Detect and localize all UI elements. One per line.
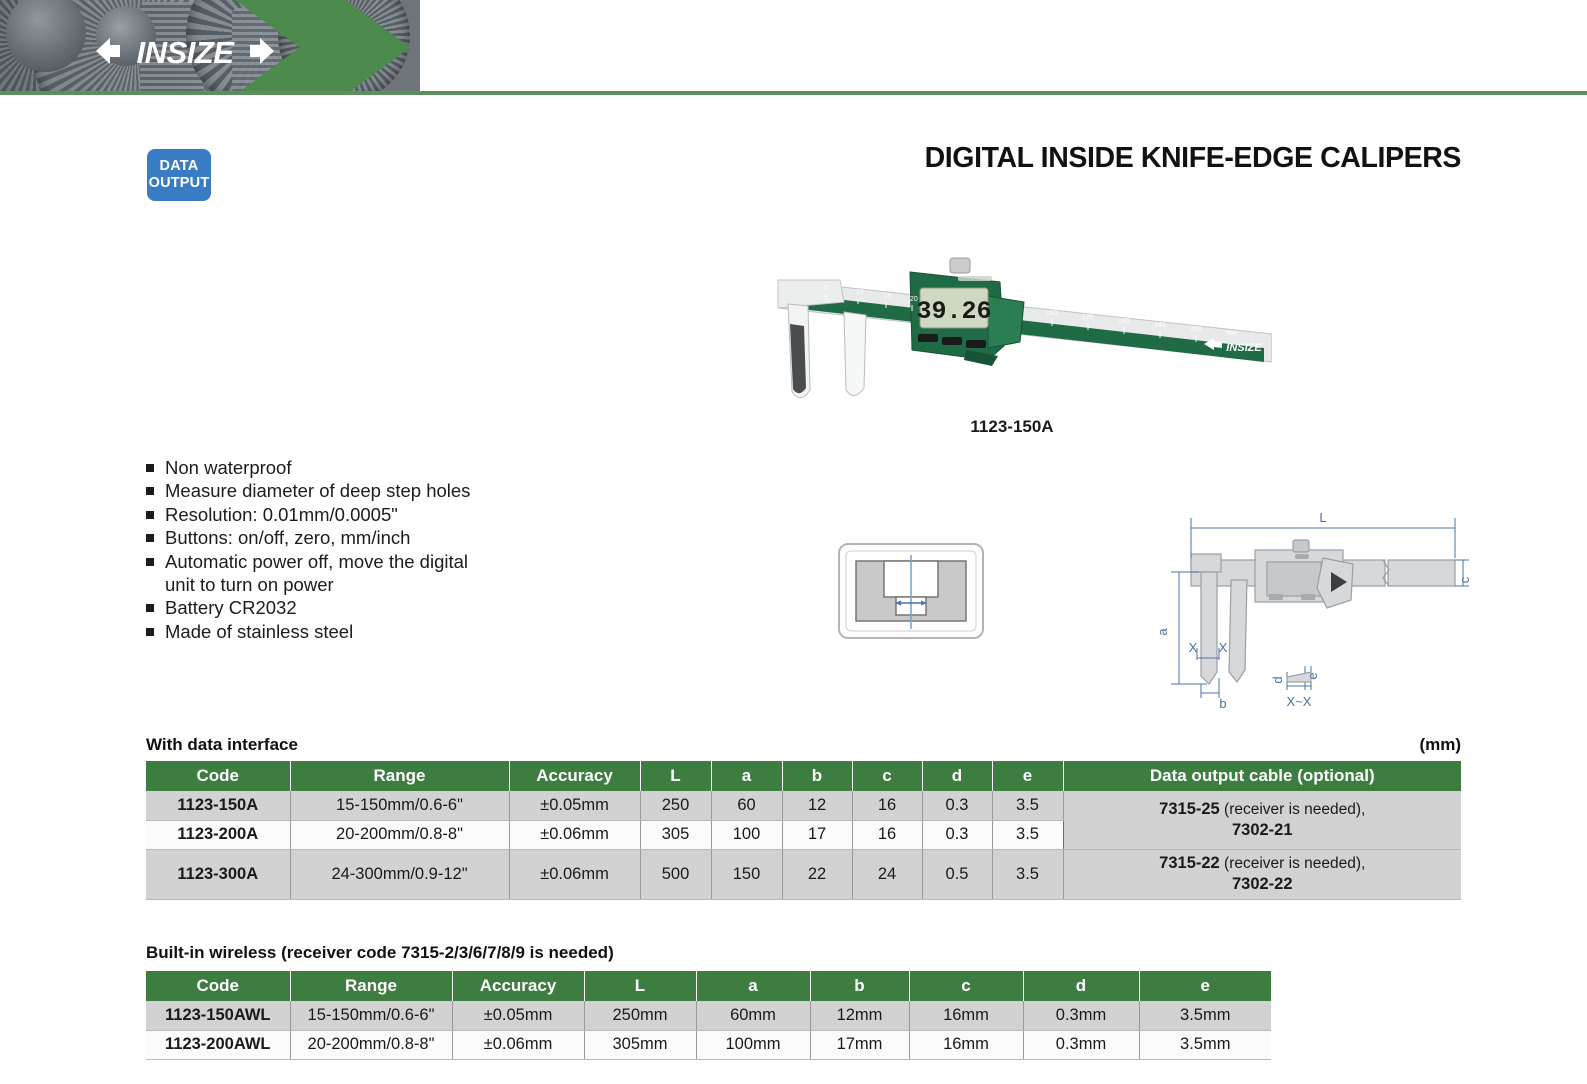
bullet-square-icon [146,511,154,519]
table-row: 1123-200AWL 20-200mm/0.8-8" ±0.06mm 305m… [146,1030,1271,1059]
dim-label-b: b [1219,696,1226,708]
cell-b: 12 [782,791,852,820]
cell-e: 3.5 [992,820,1063,849]
bullet-square-icon [146,487,154,495]
cell-d: 0.3 [922,791,992,820]
bullet-square-icon [146,464,154,472]
cable-code-2: 7302-21 [1232,821,1293,839]
col-header-e: e [992,761,1063,791]
col-header-a: a [696,971,810,1001]
list-item: Buttons: on/off, zero, mm/inch [146,526,666,549]
cell-code: 1123-150A [146,791,290,820]
table-header-row: Code Range Accuracy L a b c d e [146,971,1271,1001]
cell-range: 24-300mm/0.9-12" [290,849,509,899]
cell-range: 20-200mm/0.8-8" [290,1030,452,1059]
svg-text:20: 20 [910,296,918,303]
feature-text: Resolution: 0.01mm/0.0005" [165,503,398,526]
list-item: Automatic power off, move the digital un… [146,550,666,597]
svg-text:INSIZE: INSIZE [137,35,236,70]
table-row: 1123-150A 15-150mm/0.6-6" ±0.05mm 250 60… [146,791,1461,820]
cable-code-1: 7315-22 [1159,854,1220,872]
svg-text:15: 15 [884,293,892,300]
col-header-range: Range [290,761,509,791]
page-title: DIGITAL INSIDE KNIFE-EDGE CALIPERS [925,142,1461,175]
cell-L: 250 [640,791,711,820]
table1-unit-note: (mm) [1419,735,1461,755]
dim-label-e: e [1305,672,1320,679]
table2-caption: Built-in wireless (receiver code 7315-2/… [146,943,614,963]
cell-range: 20-200mm/0.8-8" [290,820,509,849]
cell-b: 22 [782,849,852,899]
cell-code: 1123-200A [146,820,290,849]
product-code-label: 1123-150A [752,417,1272,437]
cell-a: 100mm [696,1030,810,1059]
cell-e: 3.5 [992,849,1063,899]
cell-L: 250mm [584,1001,696,1030]
col-header-e: e [1139,971,1271,1001]
cell-a: 100 [711,820,782,849]
col-header-L: L [584,971,696,1001]
dim-label-section: X~X [1287,694,1312,708]
cell-code: 1123-300A [146,849,290,899]
svg-text:120: 120 [1082,314,1094,321]
bullet-square-icon [146,628,154,636]
bullet-square-icon [146,534,154,542]
bullet-square-icon [146,604,154,612]
header-green-rule [0,91,1587,95]
svg-text:5: 5 [824,285,828,292]
col-header-a: a [711,761,782,791]
col-header-c: c [909,971,1023,1001]
cable-code-1: 7315-25 [1159,800,1220,818]
table-row: 1123-300A 24-300mm/0.9-12" ±0.06mm 500 1… [146,849,1461,899]
col-header-accuracy: Accuracy [509,761,640,791]
cable-code-2: 7302-22 [1232,875,1293,893]
cell-d: 0.3mm [1023,1030,1139,1059]
feature-list: Non waterproof Measure diameter of deep … [146,456,666,643]
feature-text: Buttons: on/off, zero, mm/inch [165,526,410,549]
svg-text:130: 130 [1118,318,1130,325]
feature-text: Made of stainless steel [165,620,353,643]
cell-a: 60mm [696,1001,810,1030]
cell-c: 16 [852,791,922,820]
bullet-square-icon [146,558,154,566]
cell-d: 0.3mm [1023,1001,1139,1030]
dim-label-d: d [1270,676,1285,683]
cell-accuracy: ±0.06mm [509,849,640,899]
table1-caption: With data interface [146,735,298,755]
cell-code: 1123-150AWL [146,1001,290,1030]
cell-d: 0.3 [922,820,992,849]
cell-c: 16mm [909,1001,1023,1030]
col-header-b: b [782,761,852,791]
data-output-badge: DATA OUTPUT [147,149,211,201]
table-row: 1123-150AWL 15-150mm/0.6-6" ±0.05mm 250m… [146,1001,1271,1030]
list-item: Made of stainless steel [146,620,666,643]
product-photo: 39.26 510 1520 110120 130140 150mm [752,238,1272,438]
cell-range: 15-150mm/0.6-6" [290,1001,452,1030]
col-header-code: Code [146,971,290,1001]
col-header-L: L [640,761,711,791]
cell-c: 24 [852,849,922,899]
page-header-banner: INSIZE [0,0,1587,95]
col-header-range: Range [290,971,452,1001]
col-header-cable: Data output cable (optional) [1063,761,1461,791]
dim-label-c: c [1457,576,1472,583]
svg-text:10: 10 [856,289,864,296]
list-item: Measure diameter of deep step holes [146,479,666,502]
col-header-b: b [810,971,909,1001]
cell-c: 16mm [909,1030,1023,1059]
cell-cable-group-2: 7315-22 (receiver is needed), 7302-22 [1063,849,1461,899]
cell-L: 305 [640,820,711,849]
cell-code: 1123-200AWL [146,1030,290,1059]
dim-label-L: L [1319,510,1326,525]
col-header-accuracy: Accuracy [452,971,584,1001]
cell-a: 60 [711,791,782,820]
cell-b: 12mm [810,1001,909,1030]
list-item: Battery CR2032 [146,596,666,619]
spec-table-builtin-wireless: Code Range Accuracy L a b c d e 1123-150… [146,971,1271,1060]
cell-e: 3.5mm [1139,1001,1271,1030]
cell-range: 15-150mm/0.6-6" [290,791,509,820]
svg-text:140: 140 [1154,322,1166,329]
cell-e: 3.5 [992,791,1063,820]
insize-logo: INSIZE [96,30,274,72]
cell-b: 17mm [810,1030,909,1059]
svg-text:mm: mm [1226,330,1238,337]
feature-text: Non waterproof [165,456,291,479]
cell-accuracy: ±0.05mm [509,791,640,820]
cell-accuracy: ±0.06mm [452,1030,584,1059]
cell-e: 3.5mm [1139,1030,1271,1059]
badge-line-2: OUTPUT [149,175,210,192]
cell-c: 16 [852,820,922,849]
dim-label-a: a [1155,628,1170,636]
list-item: Non waterproof [146,456,666,479]
spec-table-data-interface: Code Range Accuracy L a b c d e Data out… [146,761,1461,900]
cable-note-2: (receiver is needed), [1220,855,1366,872]
svg-text:150: 150 [1190,326,1202,333]
col-header-c: c [852,761,922,791]
dimension-drawing: L c a b X X d e X~X [1145,472,1475,708]
col-header-d: d [1023,971,1139,1001]
lcd-reading: 39.26 [916,297,991,326]
cell-L: 500 [640,849,711,899]
feature-text: Automatic power off, move the digital un… [165,550,468,597]
table-header-row: Code Range Accuracy L a b c d e Data out… [146,761,1461,791]
cell-d: 0.5 [922,849,992,899]
svg-text:INSIZE: INSIZE [1226,342,1262,354]
list-item: Resolution: 0.01mm/0.0005" [146,503,666,526]
cell-b: 17 [782,820,852,849]
feature-text: Measure diameter of deep step holes [165,479,470,502]
col-header-d: d [922,761,992,791]
cell-a: 150 [711,849,782,899]
cell-cable-group-1: 7315-25 (receiver is needed), 7302-21 [1063,791,1461,849]
cable-note-1: (receiver is needed), [1220,801,1366,818]
application-step-hole-icon [838,543,984,639]
badge-line-1: DATA [160,158,199,175]
cell-accuracy: ±0.05mm [452,1001,584,1030]
cell-L: 305mm [584,1030,696,1059]
dim-label-x-left: X [1189,640,1198,655]
cell-accuracy: ±0.06mm [509,820,640,849]
svg-text:110: 110 [1046,310,1057,317]
dim-label-x-right: X [1219,640,1228,655]
feature-text: Battery CR2032 [165,596,297,619]
col-header-code: Code [146,761,290,791]
